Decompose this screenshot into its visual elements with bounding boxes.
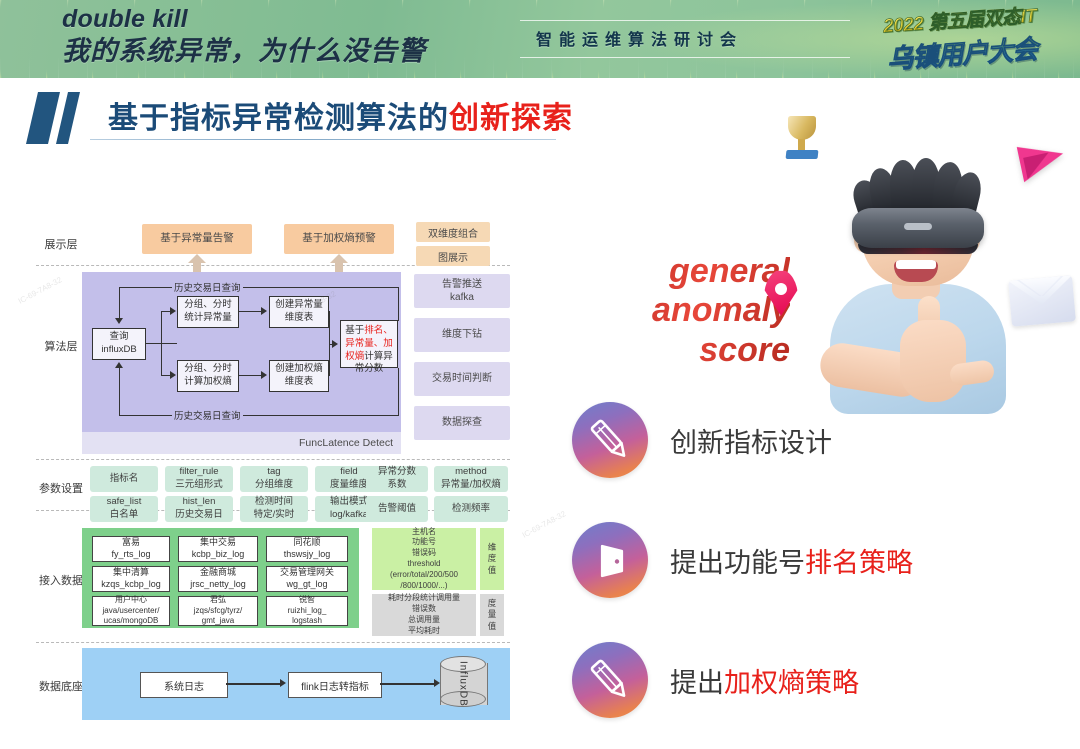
presentation-box-entropy-alert: 基于加权熵预警 [284, 224, 394, 254]
line-split-up [161, 311, 162, 344]
watermark: IC-69-7A8-32 [521, 509, 568, 539]
algorithm-panel-footer: FuncLatence Detect [82, 432, 401, 454]
arrowhead-to-anomaly [170, 307, 176, 315]
base-box-system-log: 系统日志 [140, 672, 228, 698]
param-box-r1-4: 异常分数 系数 [366, 466, 428, 492]
bullet-accent-1: 排名策略 [805, 548, 913, 578]
param-box-r1-0: 指标名 [90, 466, 158, 492]
layer-divider-4 [36, 642, 510, 643]
label-hist-query-top: 历史交易日查询 [172, 280, 243, 294]
conference-logo: 2022 第五届双态IT 乌镇用户大会 [864, 0, 1058, 77]
header-title-line1: double kill [62, 5, 426, 34]
presentation-box-chart-display: 图展示 [416, 246, 490, 266]
bullet-text-1: 提出功能号排名策略 [670, 541, 913, 580]
algo-box-query-influxdb: 查询 influxDB [92, 328, 146, 360]
data-source-box-2: 同花顺 thswsjy_log [266, 536, 348, 562]
line-entropy-to-table [239, 375, 262, 376]
line-merge-join [329, 375, 330, 376]
character-mouth [894, 260, 938, 282]
param-box-r2-4: 告警阈值 [366, 496, 428, 522]
algo-box-group-anomaly: 分组、分时 统计异常量 [177, 296, 239, 328]
data-source-box-0: 富易 fy_rts_log [92, 536, 170, 562]
dimension-value-label: 维 度 值 [480, 528, 504, 590]
architecture-diagram: 展示层 算法层 参数设置 接入数据 数据底座 基于异常量告警 基于加权熵预警 双… [22, 210, 512, 730]
param-box-r1-2: tag 分组维度 [240, 466, 308, 492]
algo-sidebox-3: 数据探查 [414, 406, 510, 440]
bullet-item-2: 提出加权熵策略 [572, 642, 859, 718]
title-slash-marks [28, 92, 86, 144]
arrowhead-to-score [332, 340, 338, 348]
param-box-r2-2: 检测时间 特定/实时 [240, 496, 308, 522]
page-title-accent: 创新探索 [449, 102, 573, 135]
algo-sidebox-1: 维度下钻 [414, 318, 510, 352]
data-source-box-5: 交易管理网关 wg_gt_log [266, 566, 348, 592]
param-box-r2-1: hist_len 历史交易日 [165, 496, 233, 522]
bullet-prefix-1: 提出功能号 [670, 548, 805, 578]
metric-value-label: 度 量 值 [480, 594, 504, 636]
algo-sidebox-2: 交易时间判断 [414, 362, 510, 396]
arrowhead-hist-top [115, 318, 123, 324]
page-title: 基于指标异常检测算法的创新探索 [108, 93, 573, 137]
arrowhead-to-entropy [170, 371, 176, 379]
presentation-box-dual-dimension: 双维度组合 [416, 222, 490, 242]
influxdb-label: InfluxDB [458, 661, 469, 707]
line-split-down [161, 343, 162, 376]
pencil-icon [572, 642, 648, 718]
param-box-r2-5: 检测频率 [434, 496, 508, 522]
title-underline [90, 139, 556, 140]
bullet-text-0: 创新指标设计 [670, 421, 832, 460]
line-anomaly-to-table [239, 311, 262, 312]
data-source-box-8: 锐智 ruizhi_log_ logstash [266, 596, 348, 626]
bullet-prefix-2: 提出 [670, 668, 724, 698]
param-box-r1-1: filter_rule 三元组形式 [165, 466, 233, 492]
param-box-r2-0: safe_list 白名单 [90, 496, 158, 522]
algo-box-anomaly-score: 基于排名、异常量、加权熵计算异常分数 [340, 320, 398, 368]
page-title-main: 基于指标异常检测算法的 [108, 102, 449, 135]
arrowhead-log-flink [280, 679, 286, 687]
card-icon [572, 522, 648, 598]
algo-sidebox-0: 告警推送 kafka [414, 274, 510, 308]
line-table-a-merge [329, 311, 330, 344]
data-source-box-7: 君弘 jzqs/sfcg/tyrz/ gmt_java [178, 596, 258, 626]
general-anomaly-score-headline: general anomaly score [540, 252, 790, 370]
layer-label-presentation: 展示层 [30, 236, 92, 252]
vr-person-illustration [762, 118, 1072, 414]
line-hist-bottom [119, 415, 399, 416]
algo-box-create-anomaly-table: 创建异常量 维度表 [269, 296, 329, 328]
metric-value-box: 耗时分段统计调用量 错误数 总调用量 平均耗时 [372, 594, 476, 636]
line-hist-bottom-right [398, 368, 399, 416]
line-flink-to-db [380, 683, 436, 685]
presentation-box-anomaly-alert: 基于异常量告警 [142, 224, 252, 254]
algo-box-group-entropy: 分组、分时 计算加权熵 [177, 360, 239, 392]
layer-divider-2 [36, 459, 510, 460]
bullet-accent-2: 加权熵策略 [724, 668, 859, 698]
trophy-icon [780, 116, 824, 164]
label-hist-query-bottom: 历史交易日查询 [172, 408, 243, 422]
layer-label-params: 参数设置 [30, 480, 92, 496]
header-rule-bottom [520, 57, 850, 58]
arrowhead-hist-bottom [115, 362, 123, 368]
slide-header-band: double kill 我的系统异常，为什么没告警 智能运维算法研讨会 2022… [0, 0, 1080, 78]
data-source-box-1: 集中交易 kcbp_biz_log [178, 536, 258, 562]
param-box-r1-5: method 异常量/加权熵 [434, 466, 508, 492]
location-pin-icon [764, 270, 798, 316]
arrowhead-entropy-table [261, 371, 267, 379]
header-conference-name: 智能运维算法研讨会 [536, 26, 743, 50]
vr-headset-icon [852, 208, 984, 248]
line-hist-top-right [398, 287, 399, 321]
influxdb-cylinder-icon: InfluxDB [440, 656, 486, 712]
bullet-item-1: 提出功能号排名策略 [572, 522, 913, 598]
line-hist-bottom-up [119, 368, 120, 416]
arrowhead-anomaly-table [261, 307, 267, 315]
algo-box-create-entropy-table: 创建加权熵 维度表 [269, 360, 329, 392]
dimension-value-box: 主机名 功能号 错误码 threshold (error/total/200/5… [372, 528, 476, 590]
data-source-box-6: 用户中心 java/usercenter/ ucas/mongoDB [92, 596, 170, 626]
paper-plane-icon [1017, 138, 1068, 182]
line-hist-top-down [119, 287, 120, 320]
base-box-flink: flink日志转指标 [288, 672, 382, 698]
line-table-b-merge [329, 344, 330, 376]
header-title: double kill 我的系统异常，为什么没告警 [62, 5, 426, 67]
character-hand [900, 320, 966, 402]
line-hist-top [119, 287, 399, 288]
data-source-box-3: 集中清算 kzqs_kcbp_log [92, 566, 170, 592]
pencil-icon [572, 402, 648, 478]
line-log-to-flink [226, 683, 282, 685]
bullet-text-2: 提出加权熵策略 [670, 661, 859, 700]
header-title-line2: 我的系统异常，为什么没告警 [62, 36, 426, 67]
data-source-box-4: 金融商城 jrsc_netty_log [178, 566, 258, 592]
bullet-prefix-0: 创新指标设计 [670, 428, 832, 458]
character-figure [822, 136, 1012, 414]
algo-score-prefix: 基于 [345, 325, 364, 336]
envelope-icon [1008, 275, 1076, 326]
header-rule-top [520, 20, 850, 21]
